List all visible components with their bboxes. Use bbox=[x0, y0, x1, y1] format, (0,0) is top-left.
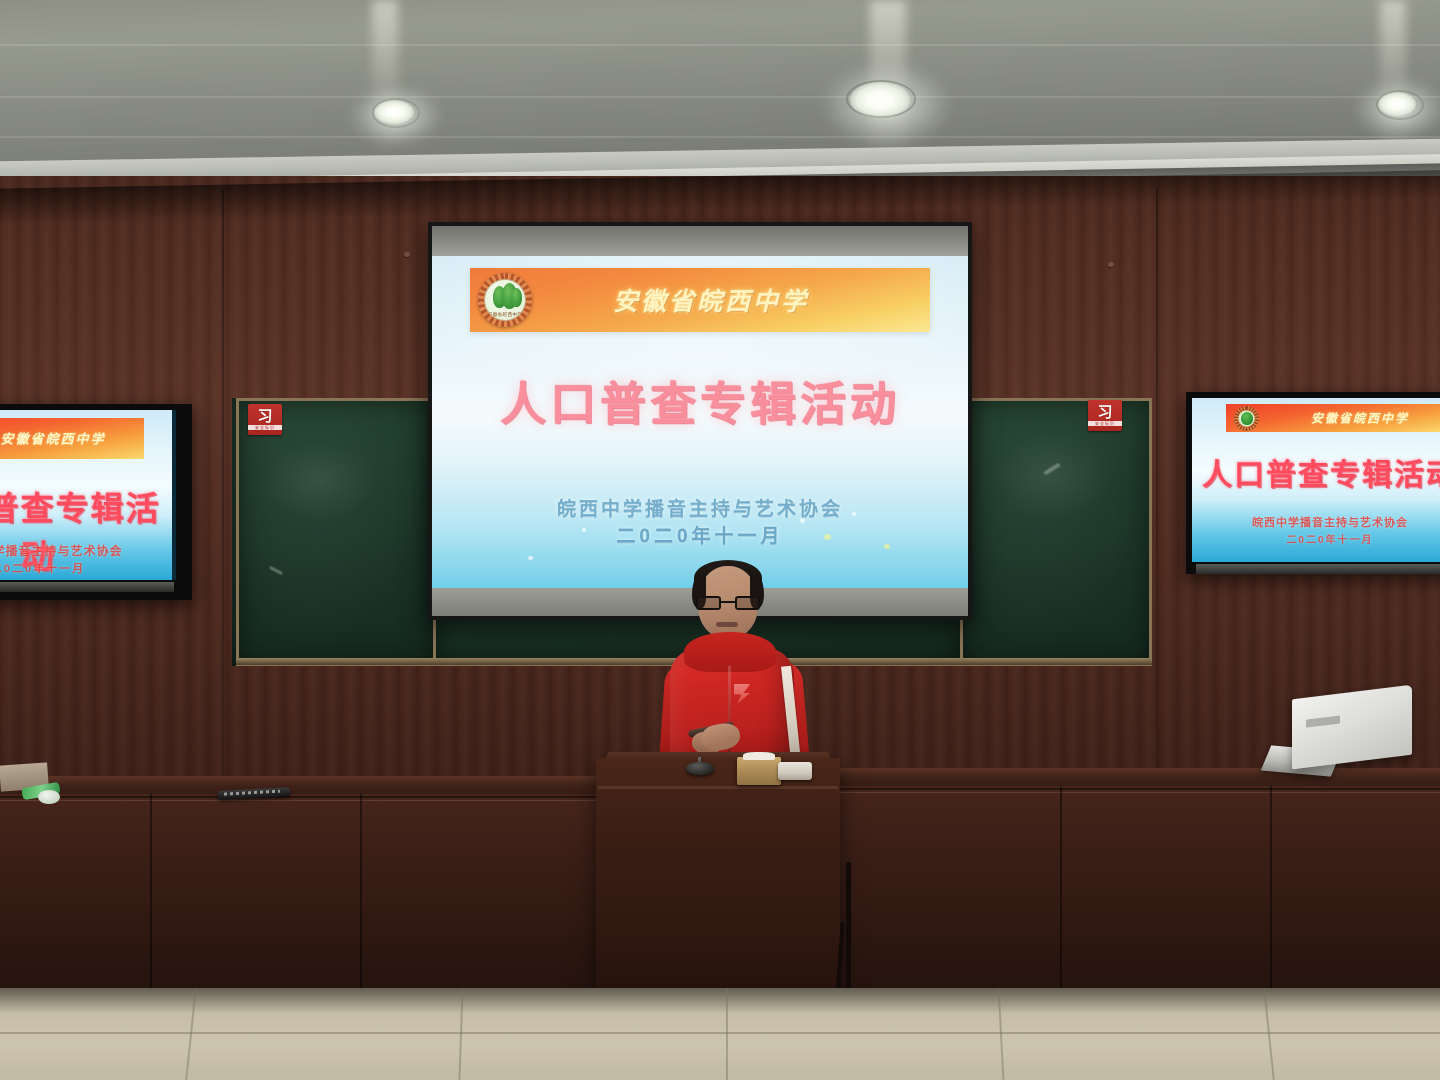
desk-panel-seam bbox=[1060, 786, 1062, 992]
school-emblem-icon: 安徽省皖西中学 bbox=[478, 273, 532, 327]
floor-tile-line bbox=[0, 1032, 1440, 1034]
tv-left-screen: 安徽省皖西中学 人口普查专辑活动 皖西中学播音主持与艺术协会 二0二0年十一月 bbox=[0, 410, 176, 580]
desk-panel-seam bbox=[150, 794, 152, 994]
tree-icon bbox=[511, 288, 522, 307]
tv-left-slide: 安徽省皖西中学 人口普查专辑活动 皖西中学播音主持与艺术协会 二0二0年十一月 bbox=[0, 410, 172, 580]
presentation-slide: 安徽省皖西中学 安徽省皖西中学 人口普查专辑活动 皖西中学播音主持与艺术协会 二… bbox=[432, 256, 968, 588]
tv-left-bezel-bottom bbox=[0, 582, 174, 592]
glasses-lens-left bbox=[696, 596, 721, 610]
tv-right-bezel-bottom bbox=[1196, 564, 1440, 574]
glasses-bridge bbox=[721, 601, 735, 603]
desk-left bbox=[0, 794, 600, 994]
slide-sparkle bbox=[884, 544, 890, 549]
chalk-smudge bbox=[259, 441, 379, 521]
power-cable bbox=[846, 862, 851, 994]
tv-left-subtitle-date: 二0二0年十一月 bbox=[0, 560, 172, 576]
chalkboard-right-panel bbox=[960, 398, 1152, 666]
wall-fixing bbox=[1108, 262, 1114, 267]
chalk-mark bbox=[269, 566, 283, 575]
chalk-smudge bbox=[993, 431, 1113, 521]
ceiling-seam bbox=[0, 44, 1440, 46]
floor-tile-line bbox=[726, 988, 728, 1080]
light-ring bbox=[1376, 90, 1424, 120]
sticker-caption: 安全标识 bbox=[1088, 421, 1122, 426]
slide-sparkle bbox=[800, 518, 805, 523]
desk-edge-highlight bbox=[0, 800, 600, 801]
glasses-lens-right bbox=[735, 596, 760, 610]
tv-left-banner-text: 安徽省皖西中学 bbox=[0, 429, 164, 448]
emblem-caption: 安徽省皖西中学 bbox=[485, 312, 525, 318]
desk-panel-seam bbox=[1270, 786, 1272, 992]
desk-edge-line bbox=[0, 796, 600, 798]
white-object bbox=[38, 790, 60, 804]
ceiling-seam bbox=[0, 96, 1440, 98]
podium-edge-highlight bbox=[598, 786, 838, 789]
desk-edge-highlight bbox=[836, 792, 1440, 793]
glasses-icon bbox=[696, 596, 760, 610]
tv-right-banner: 安徽省皖西中学 bbox=[1226, 404, 1440, 432]
tv-right-screen: 安徽省皖西中学 人口普查专辑活动 皖西中学播音主持与艺术协会 二0二0年十一月 bbox=[1192, 398, 1440, 562]
tv-right-title: 人口普查专辑活动 bbox=[1192, 450, 1440, 494]
light-ring bbox=[846, 80, 916, 118]
tv-right-subtitle-organization: 皖西中学播音主持与艺术协会 bbox=[1192, 514, 1440, 530]
slide-sparkle bbox=[528, 556, 533, 560]
desk-right bbox=[836, 786, 1440, 992]
slide-banner: 安徽省皖西中学 安徽省皖西中学 bbox=[470, 268, 930, 332]
sticker-glyph: 习 bbox=[1097, 405, 1112, 420]
wall-fixing bbox=[404, 252, 410, 257]
tissue-box[interactable] bbox=[737, 757, 781, 785]
tissue-paper bbox=[778, 762, 812, 780]
slide-sparkle bbox=[824, 534, 831, 540]
slide-title: 人口普查专辑活动 bbox=[432, 368, 968, 434]
wall-panel-seam bbox=[222, 190, 224, 810]
photo-scene: 习 安全标识 习 安全标识 bbox=[0, 0, 1440, 1080]
laptop-lid[interactable] bbox=[1292, 685, 1412, 770]
tv-right-slide: 安徽省皖西中学 人口普查专辑活动 皖西中学播音主持与艺术协会 二0二0年十一月 bbox=[1192, 398, 1440, 562]
ceiling-seam bbox=[0, 136, 1440, 138]
sticker-glyph: 习 bbox=[257, 409, 272, 424]
emblem-inner: 安徽省皖西中学 bbox=[484, 279, 526, 321]
microphone-base[interactable] bbox=[686, 762, 714, 775]
floor-shadow bbox=[0, 988, 1440, 1014]
tv-right-subtitle-date: 二0二0年十一月 bbox=[1192, 531, 1440, 546]
chalkboard-left-panel bbox=[236, 398, 436, 666]
chalkboard-sticker-left: 习 安全标识 bbox=[248, 404, 282, 435]
tv-left: 安徽省皖西中学 人口普查专辑活动 皖西中学播音主持与艺术协会 二0二0年十一月 bbox=[0, 404, 192, 600]
wall-panel-seam bbox=[1156, 190, 1158, 810]
desk-panel-seam bbox=[360, 794, 362, 994]
podium bbox=[596, 758, 840, 1020]
slide-sparkle bbox=[582, 528, 586, 532]
light-ring bbox=[372, 98, 420, 128]
tv-left-subtitle-organization: 皖西中学播音主持与艺术协会 bbox=[0, 542, 172, 559]
tv-left-banner: 安徽省皖西中学 bbox=[0, 418, 144, 459]
mouth bbox=[716, 622, 738, 627]
desk-edge-line bbox=[836, 788, 1440, 790]
chalkboard-sticker-right: 习 安全标识 bbox=[1088, 400, 1122, 431]
laptop-brand-logo bbox=[1306, 715, 1340, 727]
screen-top-band bbox=[432, 226, 968, 258]
slide-subtitle-organization: 皖西中学播音主持与艺术协会 bbox=[432, 494, 968, 521]
slide-banner-text: 安徽省皖西中学 bbox=[532, 282, 930, 318]
sticker-caption: 安全标识 bbox=[248, 425, 282, 430]
tv-right-banner-text: 安徽省皖西中学 bbox=[1226, 410, 1440, 427]
hoodie-zip bbox=[728, 666, 731, 766]
slide-sparkle bbox=[852, 512, 856, 516]
tv-right: 安徽省皖西中学 人口普查专辑活动 皖西中学播音主持与艺术协会 二0二0年十一月 bbox=[1186, 392, 1440, 574]
